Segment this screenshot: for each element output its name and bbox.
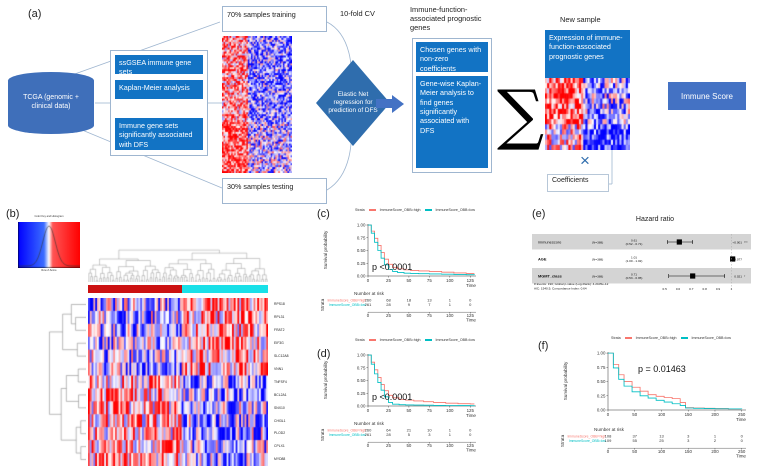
y-tick: 0.25: [357, 261, 366, 266]
p-value-label: p <0.0001: [372, 392, 412, 402]
panel-f-letter: (f): [538, 340, 548, 352]
gene-label: RPS18: [274, 302, 285, 306]
x-tick: 100: [446, 278, 454, 283]
forest-ci: (1.00 - 1.02): [626, 259, 643, 263]
forest-variable-name: MGMT_class: [538, 273, 562, 278]
x-tick: 0: [367, 278, 370, 283]
x-tick: 100: [658, 412, 666, 417]
risk-strata-name: ImmuneScore_OBB=high: [327, 299, 366, 303]
panel-d-legend-swatch-low: [425, 339, 432, 340]
panel-d-legend-swatch-high: [369, 339, 376, 340]
panel-c-legend-swatch-low: [425, 209, 432, 210]
forest-axis-tick: 0.7: [689, 287, 694, 291]
y-axis-label: Survival probability: [323, 230, 328, 269]
forest-axis-tick: 0.9: [716, 287, 721, 291]
prognostic-box-gene-wise-km: Gene-wise Kaplan-Meier analysis to find …: [416, 76, 488, 168]
forest-p-value: <0.001: [732, 240, 742, 244]
pipeline-box-ssgsea-label: ssGSEA immune gene sets: [119, 58, 191, 76]
risk-x-tick: 50: [406, 443, 411, 448]
y-tick: 1.00: [597, 351, 606, 356]
y-tick: 0.50: [357, 248, 366, 253]
x-tick: 50: [632, 412, 637, 417]
panel-e-letter: (e): [532, 208, 545, 220]
pipeline-box-ssgsea: ssGSEA immune gene sets: [115, 55, 203, 74]
split-testing-label: 30% samples testing: [227, 182, 293, 191]
coefficients-box: Coefficients: [547, 174, 609, 192]
panel-f-legend-label-high: ImmuneScore_OBB=high: [636, 336, 677, 340]
x-tick: 100: [446, 408, 454, 413]
gene-label: PLOD2: [274, 431, 285, 435]
risk-count: 28: [386, 432, 391, 437]
risk-x-tick: 0: [367, 443, 370, 448]
risk-count: 261: [365, 432, 372, 437]
prognostic-box-gene-wise-km-label: Gene-wise Kaplan-Meier analysis to find …: [420, 79, 481, 135]
forest-point-estimate: [677, 239, 682, 244]
forest-axis-tick: 0.8: [703, 287, 708, 291]
panel-d-km-plot: 0.000.250.500.751.000255075100125p <0.00…: [320, 346, 485, 461]
panel-a-heatmap-training: [222, 36, 292, 173]
risk-strata-name: ImmuneScore_OBB=low: [329, 433, 367, 437]
risk-x-tick: 0: [607, 449, 610, 454]
gene-label: CHI3L1: [274, 419, 286, 423]
y-tick: 0.50: [357, 378, 366, 383]
risk-strata-name: ImmuneScore_OBB=high: [567, 435, 606, 439]
forest-footnote-aic: AIC: 1540.5; Concordance Index: 0.64: [534, 287, 587, 291]
prognostic-box-chosen-genes-label: Chosen genes with non-zero coefficients: [420, 45, 481, 73]
x-axis-label: Time: [466, 413, 476, 418]
risk-count: 0: [469, 302, 472, 307]
risk-count: 2: [714, 438, 717, 443]
flow-arrow-head-icon: [392, 95, 404, 113]
risk-count: 5: [408, 432, 411, 437]
risk-count: 261: [365, 302, 372, 307]
risk-x-tick: 75: [427, 313, 432, 318]
tcga-database-label: TCGA (genomic + clinical data): [12, 94, 90, 112]
risk-x-axis-label: Time: [466, 448, 476, 453]
x-tick: 150: [685, 412, 693, 417]
risk-strata-axis-label: Strata: [320, 428, 325, 441]
km-curve: [608, 353, 742, 409]
y-tick: 0.50: [597, 379, 606, 384]
gene-label: SNX10: [274, 406, 285, 410]
forest-sample-size: (N=388): [592, 274, 603, 278]
y-tick: 0.00: [357, 274, 366, 279]
risk-table-title: Number at risk: [594, 427, 625, 432]
x-tick: 25: [386, 278, 391, 283]
risk-table-title: Number at risk: [354, 291, 385, 296]
risk-strata-axis-label: Strata: [320, 298, 325, 311]
panel-c-legend: Strata ImmuneScore_OBB=high ImmuneScore_…: [345, 208, 485, 212]
panel-f-legend-label-low: ImmuneScore_OBB=low: [692, 336, 731, 340]
x-tick: 75: [427, 408, 432, 413]
risk-count: 9: [408, 302, 411, 307]
x-tick: 0: [367, 408, 370, 413]
y-tick: 0.75: [357, 235, 366, 240]
panel-d-legend-prefix: Strata: [355, 338, 365, 342]
y-tick: 0.25: [357, 391, 366, 396]
split-training-label: 70% samples training: [227, 10, 296, 19]
forest-point-estimate: [690, 273, 695, 278]
split-testing-box: 30% samples testing: [222, 178, 327, 204]
risk-x-tick: 100: [446, 443, 454, 448]
forest-ci: (0.52 - 0.71): [626, 242, 643, 246]
risk-x-tick: 100: [446, 313, 454, 318]
panel-c-legend-label-low: ImmuneScore_OBB=low: [436, 208, 475, 212]
gene-label: VNN1: [274, 367, 283, 371]
forest-variable-name: immunescore: [538, 239, 561, 244]
cv-label: 10-fold CV: [340, 10, 375, 19]
risk-count: 1: [449, 302, 452, 307]
forest-p-value: 0.021: [734, 274, 742, 278]
risk-table-title: Number at risk: [354, 421, 385, 426]
risk-x-tick: 25: [386, 313, 391, 318]
risk-count: 7: [428, 302, 431, 307]
panel-d-legend-label-high: ImmuneScore_OBB=high: [380, 338, 421, 342]
x-tick: 200: [711, 412, 719, 417]
x-tick: 25: [386, 408, 391, 413]
forest-ci: (0.53 - 0.95): [626, 276, 643, 280]
multiply-icon: ×: [580, 152, 590, 169]
risk-strata-name: ImmuneScore_OBB=low: [329, 303, 367, 307]
risk-x-tick: 50: [406, 313, 411, 318]
y-axis-label: Survival probability: [563, 361, 568, 400]
prognostic-genes-header: Immune-function-associated prognostic ge…: [410, 6, 490, 33]
expression-box: Expression of immune-function-associated…: [545, 30, 630, 78]
p-value-label: p <0.0001: [372, 262, 412, 272]
immune-score-box: Immune Score: [668, 82, 746, 110]
pipeline-box-immune-gene-sets-label: Immune gene sets significantly associate…: [119, 121, 193, 149]
risk-count: 3: [687, 438, 690, 443]
forest-axis-tick: 1: [730, 287, 732, 291]
km-curve: [608, 353, 742, 409]
p-value-label: p = 0.01463: [638, 364, 686, 374]
panel-e-forest-plot: immunescore(N=388)0.61(0.52 - 0.71)<0.00…: [530, 230, 755, 315]
panel-a-heatmap-new-sample: [545, 78, 630, 150]
risk-x-axis-label: Time: [466, 318, 476, 323]
x-axis-label: Time: [736, 417, 746, 422]
y-tick: 1.00: [357, 223, 366, 228]
panel-c-legend-label-high: ImmuneScore_OBB=high: [380, 208, 421, 212]
risk-strata-axis-label: Strata: [560, 434, 565, 447]
new-sample-label: New sample: [560, 16, 601, 25]
y-tick: 0.75: [357, 365, 366, 370]
expression-box-label: Expression of immune-function-associated…: [549, 33, 623, 61]
panel-c-legend-prefix: Strata: [355, 208, 365, 212]
panel-f-km-plot: 0.000.250.500.751.00050100150200250p = 0…: [560, 344, 755, 469]
gene-label: EIF3G: [274, 341, 284, 345]
risk-count: 109: [605, 438, 612, 443]
risk-strata-name: ImmuneScore_OBB=low: [569, 439, 607, 443]
panel-f-legend-prefix: Strata: [611, 336, 621, 340]
x-tick: 75: [427, 278, 432, 283]
y-tick: 1.00: [357, 353, 366, 358]
risk-x-axis-label: Time: [736, 454, 746, 459]
color-key-gradient: [18, 222, 80, 268]
gene-label: MYD88: [274, 457, 285, 461]
forest-axis-tick: 0.6: [676, 287, 681, 291]
forest-p-value: 0.077: [734, 257, 742, 261]
forest-footnote-events: # Events: 190; Global p-value (Log-Rank)…: [534, 282, 609, 286]
risk-x-tick: 200: [711, 449, 719, 454]
risk-x-tick: 100: [658, 449, 666, 454]
coefficients-label: Coefficients: [552, 177, 588, 184]
panel-b-heatmap: [88, 298, 268, 466]
column-dendrogram: [88, 222, 268, 282]
panel-c-legend-swatch-high: [369, 209, 376, 210]
y-axis-label: Survival probability: [323, 360, 328, 399]
y-tick: 0.25: [597, 393, 606, 398]
gene-label: TNFSF4: [274, 380, 287, 384]
panel-f-legend-swatch-low: [681, 337, 688, 338]
cluster-bar-group1: [88, 285, 182, 293]
risk-x-tick: 50: [632, 449, 637, 454]
x-tick: 0: [607, 412, 610, 417]
split-training-box: 70% samples training: [222, 6, 327, 32]
y-tick: 0.00: [597, 408, 606, 413]
gene-label: BCL2A1: [274, 393, 287, 397]
pipeline-box-kaplan-meier-label: Kaplan-Meier analysis: [119, 83, 190, 92]
risk-x-tick: 0: [367, 313, 370, 318]
panel-f-legend: Strata ImmuneScore_OBB=high ImmuneScore_…: [596, 336, 746, 340]
panel-d-legend: Strata ImmuneScore_OBB=high ImmuneScore_…: [345, 338, 485, 342]
pipeline-box-kaplan-meier: Kaplan-Meier analysis: [115, 80, 203, 99]
summation-sigma-symbol: ∑: [497, 82, 544, 148]
risk-count: 0: [741, 438, 744, 443]
y-tick: 0.75: [597, 365, 606, 370]
risk-x-tick: 25: [386, 443, 391, 448]
y-tick: 0.00: [357, 404, 366, 409]
gene-label: SLC12A8: [274, 354, 289, 358]
forest-sample-size: (N=388): [592, 257, 603, 261]
risk-x-tick: 150: [685, 449, 693, 454]
forest-variable-name: AGE: [538, 256, 547, 261]
risk-count: 3: [428, 432, 431, 437]
gene-label-list: RPS18RPL31FRAT2EIF3GSLC12A8VNN1TNFSF4BCL…: [270, 298, 314, 466]
risk-count: 0: [469, 432, 472, 437]
x-tick: 50: [406, 278, 411, 283]
gene-label: RPL31: [274, 315, 284, 319]
tcga-database-cylinder: TCGA (genomic + clinical data): [8, 72, 94, 134]
risk-count: 55: [633, 438, 638, 443]
prognostic-box-chosen-genes: Chosen genes with non-zero coefficients: [416, 42, 488, 72]
row-dendrogram: [6, 298, 86, 466]
panel-b-letter: (b): [6, 208, 19, 220]
gene-label: CPLX1: [274, 444, 285, 448]
x-axis-label: Time: [466, 283, 476, 288]
risk-count: 1: [449, 432, 452, 437]
panel-e-title: Hazard ratio: [556, 216, 754, 223]
risk-strata-name: ImmuneScore_OBB=high: [327, 429, 366, 433]
cluster-bar-group2: [182, 285, 268, 293]
forest-axis-tick: 0.5: [663, 287, 668, 291]
flow-arrow-tail: [376, 99, 392, 108]
immune-score-label: Immune Score: [681, 92, 733, 101]
gene-label: FRAT2: [274, 328, 285, 332]
color-key-title: Color Key and Histogram: [18, 215, 80, 218]
forest-sample-size: (N=388): [592, 240, 603, 244]
pipeline-box-immune-gene-sets: Immune gene sets significantly associate…: [115, 118, 203, 150]
panel-c-km-plot: 0.000.250.500.751.000255075100125p <0.00…: [320, 216, 485, 331]
x-tick: 50: [406, 408, 411, 413]
risk-count: 25: [659, 438, 664, 443]
panel-d-legend-label-low: ImmuneScore_OBB=low: [436, 338, 475, 342]
risk-count: 28: [386, 302, 391, 307]
risk-x-tick: 75: [427, 443, 432, 448]
color-key-xlabel: Row Z-Score: [18, 269, 80, 272]
panel-f-legend-swatch-high: [625, 337, 632, 338]
